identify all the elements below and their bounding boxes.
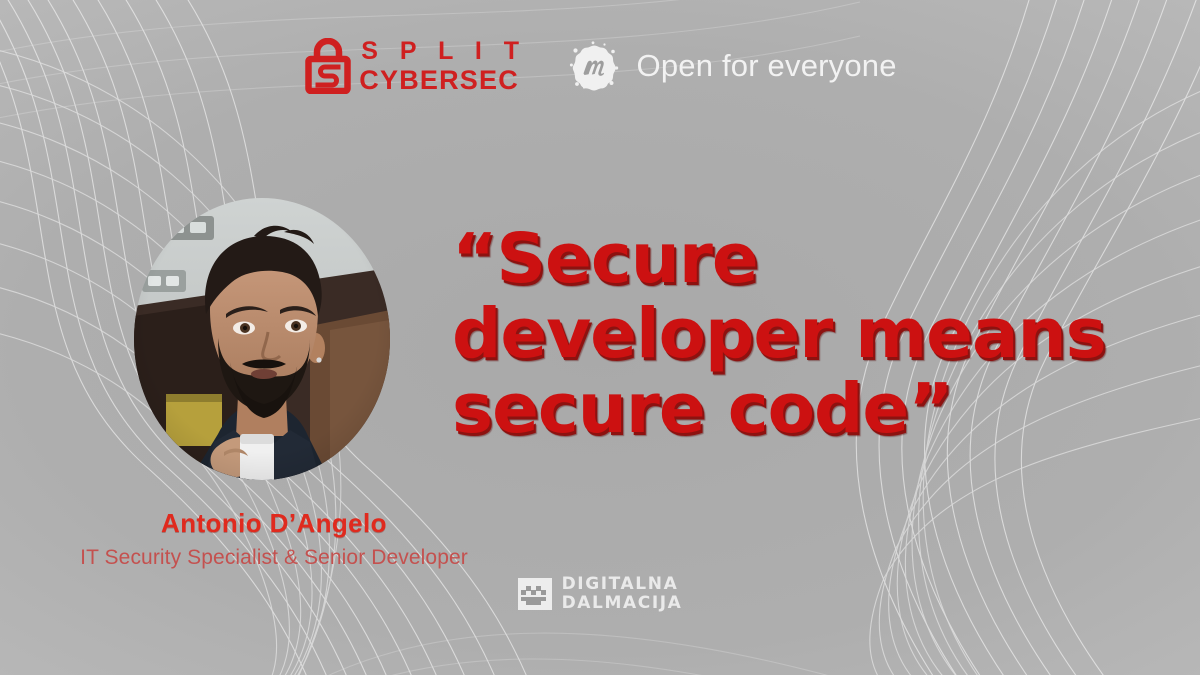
- slide-header: S P L I T CYBERSEC: [0, 38, 1200, 94]
- speaker-name: Antonio D’Angelo: [0, 508, 548, 539]
- dd-line-dalmacija: DALMACIJA: [562, 595, 683, 612]
- presentation-slide: S P L I T CYBERSEC: [0, 0, 1200, 675]
- digitalna-dalmacija-logo: DIGITALNA DALMACIJA: [0, 576, 1200, 612]
- split-cybersec-logo: S P L I T CYBERSEC: [303, 38, 526, 94]
- digitalna-dalmacija-icon: [518, 578, 552, 610]
- speaker-info: Antonio D’Angelo IT Security Specialist …: [0, 508, 548, 570]
- speaker-role: IT Security Specialist & Senior Develope…: [0, 546, 548, 570]
- split-cybersec-wordmark: S P L I T CYBERSEC: [359, 39, 526, 94]
- digitalna-dalmacija-wordmark: DIGITALNA DALMACIJA: [562, 576, 683, 612]
- meetup-tagline: Open for everyone: [637, 48, 897, 84]
- padlock-icon: [303, 38, 353, 94]
- meetup-partner-block: Open for everyone: [569, 41, 897, 91]
- speaker-photo: [134, 198, 390, 480]
- quote-text: “Secure developer means secure code”: [452, 222, 1152, 447]
- dd-line-digitalna: DIGITALNA: [562, 576, 683, 593]
- brand-line-cybersec: CYBERSEC: [359, 67, 526, 94]
- meetup-logo-icon: [569, 41, 619, 91]
- brand-line-split: S P L I T: [359, 39, 526, 64]
